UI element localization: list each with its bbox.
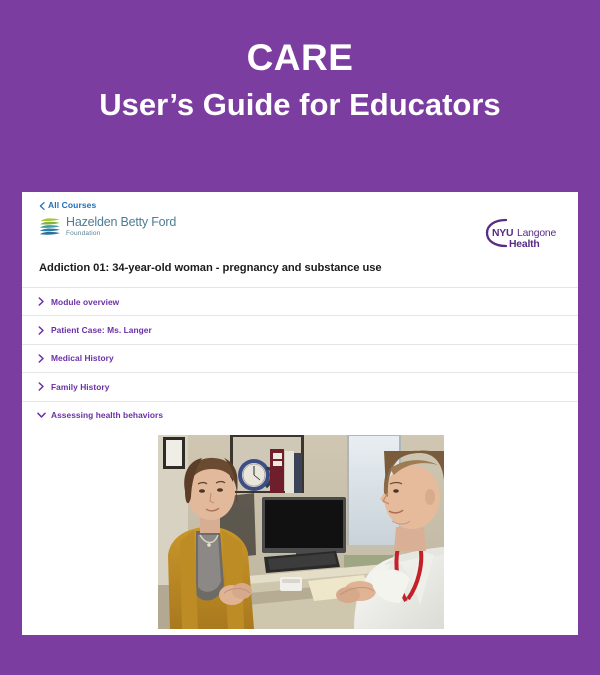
course-title: Addiction 01: 34-year-old woman - pregna… <box>39 262 382 274</box>
chevron-down-icon <box>37 411 46 420</box>
chevron-right-icon <box>37 354 46 363</box>
accordion-item-medical-history[interactable]: Medical History <box>22 344 578 372</box>
accordion-label: Family History <box>51 382 109 392</box>
course-card: All Courses Hazelden Betty Ford Foundati… <box>22 192 578 635</box>
accordion-item-family-history[interactable]: Family History <box>22 372 578 400</box>
page-root: CARE User’s Guide for Educators All Cour… <box>0 0 600 675</box>
module-accordion: Module overview Patient Case: Ms. Langer… <box>22 287 578 429</box>
hazelden-betty-ford-logo: Hazelden Betty Ford Foundation <box>39 216 176 237</box>
accordion-label: Medical History <box>51 353 114 363</box>
logo-row: Hazelden Betty Ford Foundation NYU Lango… <box>22 214 578 260</box>
hazelden-logo-name: Hazelden Betty Ford <box>66 216 176 229</box>
clinical-interview-photo-frame <box>158 435 444 629</box>
accordion-item-patient-case[interactable]: Patient Case: Ms. Langer <box>22 315 578 343</box>
accordion-label: Patient Case: Ms. Langer <box>51 325 152 335</box>
chevron-right-icon <box>37 382 46 391</box>
hazelden-logo-subtitle: Foundation <box>66 231 176 238</box>
nyu-langone-health-logo: NYU Langone Health <box>484 214 558 254</box>
accordion-item-module-overview[interactable]: Module overview <box>22 287 578 315</box>
hazelden-waves-logo <box>39 217 61 237</box>
chevron-left-icon <box>39 202 45 208</box>
svg-text:NYU: NYU <box>492 228 513 239</box>
all-courses-back-link[interactable]: All Courses <box>39 200 96 210</box>
all-courses-label: All Courses <box>48 200 96 210</box>
clinical-interview-photo <box>158 435 444 629</box>
svg-text:Langone: Langone <box>517 228 556 239</box>
banner-title: CARE <box>247 38 354 78</box>
accordion-item-assessing-health-behaviors[interactable]: Assessing health behaviors <box>22 401 578 429</box>
chevron-right-icon <box>37 326 46 335</box>
accordion-label: Module overview <box>51 297 119 307</box>
svg-text:Health: Health <box>509 239 540 250</box>
accordion-label: Assessing health behaviors <box>51 410 163 420</box>
banner-subtitle: User’s Guide for Educators <box>99 87 500 124</box>
banner: CARE User’s Guide for Educators <box>0 0 600 192</box>
chevron-right-icon <box>37 297 46 306</box>
